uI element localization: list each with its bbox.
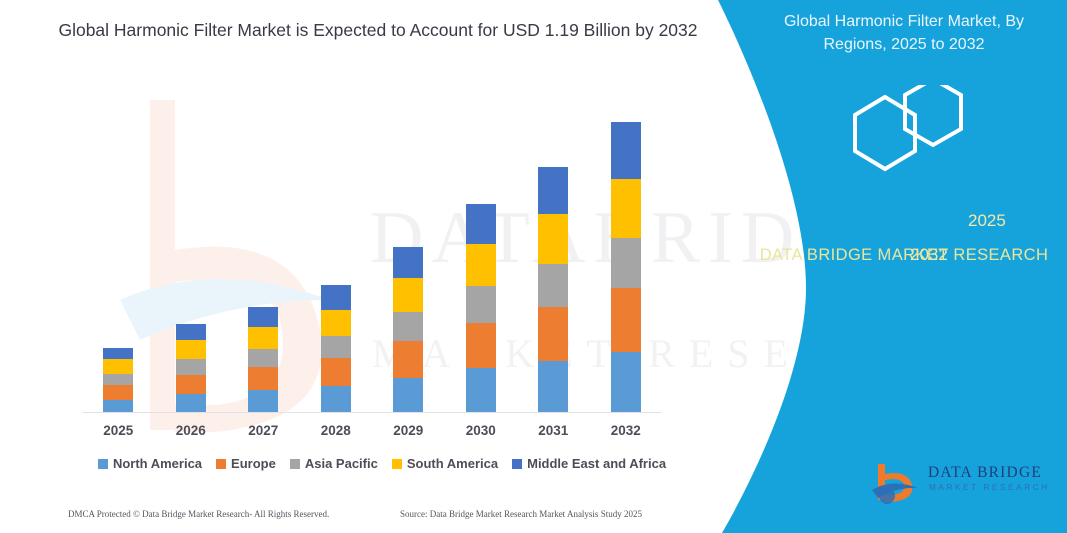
bar-segment[interactable] [466, 204, 496, 244]
x-axis-label: 2026 [155, 423, 228, 438]
bar-segment[interactable] [466, 368, 496, 412]
bar-segment[interactable] [176, 340, 206, 359]
hexagon-group: 2025 2032 [800, 85, 1050, 205]
x-axis-label: 2025 [82, 423, 155, 438]
bar-segment[interactable] [248, 327, 278, 349]
footer-copyright: DMCA Protected © Data Bridge Market Rese… [68, 509, 329, 519]
bar-segment[interactable] [538, 307, 568, 361]
x-axis-label: 2030 [445, 423, 518, 438]
data-bridge-logo-icon [868, 460, 926, 508]
bar-segment[interactable] [103, 348, 133, 359]
legend-swatch-icon [216, 459, 226, 469]
bar-group [82, 100, 662, 412]
bar-segment[interactable] [611, 238, 641, 288]
stacked-bar[interactable] [611, 122, 641, 412]
chart-plot [82, 100, 662, 413]
bar-segment[interactable] [466, 286, 496, 322]
stacked-bar[interactable] [248, 307, 278, 412]
x-axis-label: 2032 [590, 423, 663, 438]
legend-swatch-icon [98, 459, 108, 469]
bar-segment[interactable] [248, 349, 278, 368]
bar-segment[interactable] [466, 244, 496, 287]
bar-segment[interactable] [393, 378, 423, 412]
bar-segment[interactable] [393, 341, 423, 377]
legend-label: Middle East and Africa [527, 456, 666, 471]
bar-segment[interactable] [611, 288, 641, 351]
bar-segment[interactable] [321, 285, 351, 310]
bar-segment[interactable] [248, 390, 278, 412]
bar-segment[interactable] [176, 324, 206, 341]
x-axis-label: 2027 [227, 423, 300, 438]
panel-content: Global Harmonic Filter Market, By Region… [740, 0, 1067, 533]
legend-item[interactable]: Middle East and Africa [512, 456, 666, 471]
bar-segment[interactable] [321, 386, 351, 412]
chart-legend: North AmericaEuropeAsia PacificSouth Ame… [82, 456, 682, 471]
bar-segment[interactable] [611, 352, 641, 412]
bar-segment[interactable] [103, 374, 133, 385]
logo-name: DATA BRIDGE [928, 464, 1042, 482]
panel-title: Global Harmonic Filter Market, By Region… [754, 10, 1054, 56]
stacked-bar[interactable] [538, 167, 568, 412]
x-axis-label: 2028 [300, 423, 373, 438]
bar-segment[interactable] [321, 310, 351, 336]
bar-segment[interactable] [248, 367, 278, 390]
stacked-bar[interactable] [176, 324, 206, 412]
legend-label: Asia Pacific [305, 456, 378, 471]
legend-item[interactable]: North America [98, 456, 202, 471]
legend-label: North America [113, 456, 202, 471]
bar-slot [227, 100, 300, 412]
x-axis-labels: 20252026202720282029203020312032 [82, 423, 662, 438]
bar-segment[interactable] [393, 247, 423, 278]
bar-segment[interactable] [538, 361, 568, 412]
chart-title: Global Harmonic Filter Market is Expecte… [58, 18, 698, 43]
bar-slot [372, 100, 445, 412]
x-axis-label: 2031 [517, 423, 590, 438]
footer-source: Source: Data Bridge Market Research Mark… [400, 509, 642, 519]
legend-swatch-icon [512, 459, 522, 469]
chart-area: Global Harmonic Filter Market is Expecte… [0, 0, 740, 533]
stacked-bar[interactable] [321, 285, 351, 412]
hexagon-icon [800, 85, 1050, 205]
bar-segment[interactable] [176, 375, 206, 395]
x-axis-label: 2029 [372, 423, 445, 438]
legend-item[interactable]: Asia Pacific [290, 456, 378, 471]
bar-segment[interactable] [103, 400, 133, 412]
bar-segment[interactable] [611, 179, 641, 238]
stacked-bar[interactable] [393, 247, 423, 412]
bar-segment[interactable] [321, 358, 351, 386]
bar-slot [517, 100, 590, 412]
bar-segment[interactable] [176, 394, 206, 412]
bar-segment[interactable] [466, 323, 496, 369]
brand-logo: DATA BRIDGE MARKET RESEARCH [868, 460, 1063, 512]
bar-slot [445, 100, 518, 412]
bar-slot [82, 100, 155, 412]
logo-tagline: MARKET RESEARCH [929, 483, 1050, 492]
stacked-bar[interactable] [103, 348, 133, 412]
bar-segment[interactable] [103, 359, 133, 374]
legend-label: South America [407, 456, 498, 471]
bar-segment[interactable] [393, 278, 423, 312]
stacked-bar[interactable] [466, 204, 496, 412]
bar-segment[interactable] [103, 385, 133, 400]
infographic-root: DATABRIDGE MARKET RESEARCH Global Harmon… [0, 0, 1067, 533]
bar-segment[interactable] [321, 336, 351, 358]
bar-slot [300, 100, 373, 412]
bar-segment[interactable] [248, 307, 278, 327]
hex-label-front: 2025 [968, 211, 1006, 231]
bar-slot [590, 100, 663, 412]
bar-segment[interactable] [611, 122, 641, 179]
bar-slot [155, 100, 228, 412]
legend-label: Europe [231, 456, 276, 471]
brand-name: DATA BRIDGE MARKET RESEARCH [754, 243, 1054, 269]
bar-segment[interactable] [538, 214, 568, 264]
x-axis-line [82, 412, 662, 413]
legend-item[interactable]: South America [392, 456, 498, 471]
legend-swatch-icon [290, 459, 300, 469]
bar-segment[interactable] [538, 264, 568, 307]
bar-segment[interactable] [176, 359, 206, 375]
bar-segment[interactable] [393, 312, 423, 341]
bar-segment[interactable] [538, 167, 568, 215]
legend-swatch-icon [392, 459, 402, 469]
legend-item[interactable]: Europe [216, 456, 276, 471]
